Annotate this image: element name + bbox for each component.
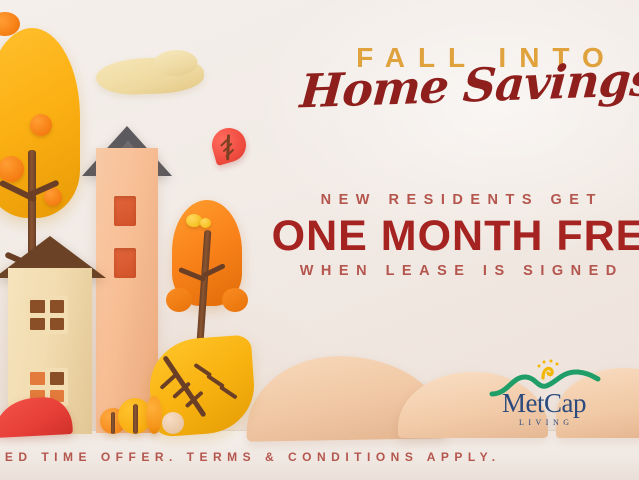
offer-top-line: NEW RESIDENTS GET: [258, 192, 639, 208]
metcap-logo[interactable]: MetCap LIVING: [482, 360, 606, 436]
leaf-vein: [219, 385, 238, 400]
offer-bottom-line: WHEN LEASE IS SIGNED: [258, 263, 639, 279]
window-pane: [30, 300, 45, 313]
cream-house-window-upper: [26, 296, 68, 334]
logo-sun-icon: [530, 358, 564, 380]
red-leaf-icon: [208, 124, 250, 166]
cloud-icon: [95, 56, 204, 96]
tree-berry-icon: [0, 156, 24, 182]
tree-berry-icon: [30, 114, 52, 136]
offer-main-line: ONE MONTH FRE: [258, 212, 639, 260]
logo-wordmark: MetCap: [482, 390, 606, 417]
window-pane: [30, 372, 45, 385]
pebble-icon: [162, 412, 184, 434]
tall-house-window: [114, 248, 136, 278]
logo-tagline: LIVING: [482, 418, 606, 427]
pumpkin-icon: [146, 396, 162, 434]
tree-berry-icon: [200, 218, 211, 228]
tree-berry-icon: [44, 188, 62, 206]
headline-script: Home Savings!: [298, 56, 639, 115]
headline-block: FALL INTO Home Savings!: [300, 44, 639, 108]
pumpkin-stem: [111, 412, 115, 434]
tall-house-body: [96, 148, 158, 433]
window-pane: [50, 318, 65, 331]
window-pane: [50, 372, 65, 385]
disclaimer-text: TED TIME OFFER. TERMS & CONDITIONS APPLY…: [0, 450, 501, 464]
offer-block: NEW RESIDENTS GET ONE MONTH FRE WHEN LEA…: [258, 192, 639, 279]
promotional-banner: FALL INTO Home Savings! NEW RESIDENTS GE…: [0, 0, 639, 480]
tall-house-window: [114, 196, 136, 226]
leaf-vein: [159, 372, 178, 390]
window-pane: [30, 318, 45, 331]
window-pane: [50, 300, 65, 313]
pumpkin-stem: [133, 404, 138, 434]
